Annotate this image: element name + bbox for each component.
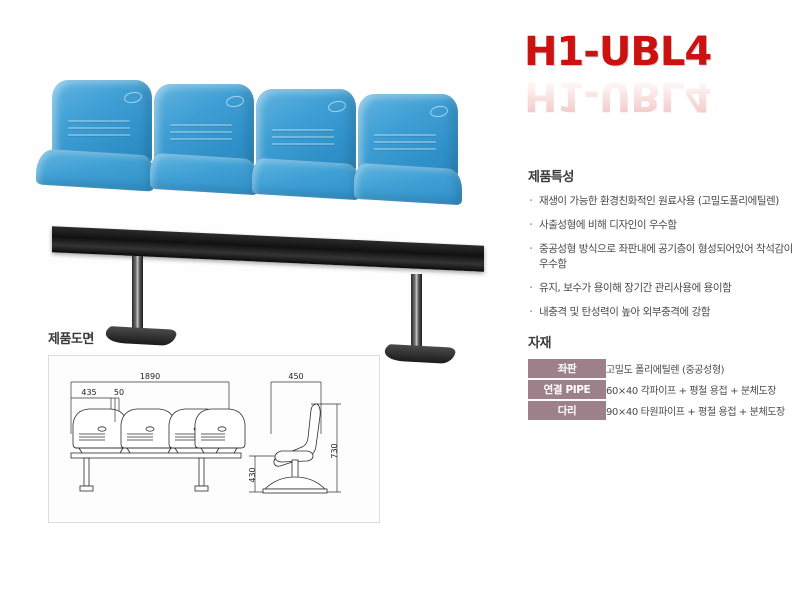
- material-key: 좌판: [528, 359, 606, 379]
- drawing-box: 1890 435 50: [48, 355, 380, 523]
- materials-table: 좌판 고밀도 폴리에틸렌 (중공성형) 연결 PIPE 60×40 각파이프 +…: [528, 359, 804, 422]
- drawing-svg: 1890 435 50: [49, 356, 379, 522]
- photo-stage: [30, 60, 510, 310]
- seat-pan: [150, 153, 258, 196]
- feature-item: 유지, 보수가 용이해 장기간 관리사용에 용이함: [528, 281, 804, 296]
- dim-total-height: 730: [330, 443, 339, 458]
- product-model-name-reflection: H1-UBL4: [524, 76, 711, 116]
- material-value: 60×40 각파이프 + 평철 용접 + 분체도장: [606, 379, 804, 400]
- features-list: 재생이 가능한 환경친화적인 원료사용 (고밀도폴리에틸렌) 사출성형에 비해 …: [528, 194, 804, 319]
- leg-post: [132, 256, 143, 334]
- product-model-name: H1-UBL4: [524, 32, 804, 72]
- table-row: 좌판 고밀도 폴리에틸렌 (중공성형): [528, 359, 804, 379]
- product-title-block: H1-UBL4 H1-UBL4: [524, 32, 804, 124]
- seat-pan: [354, 163, 462, 206]
- feature-item: 사출성형에 비해 디자인이 우수함: [528, 218, 804, 233]
- material-value: 90×40 타원파이프 + 평철 용접 + 분체도장: [606, 400, 804, 421]
- product-catalog-page: H1-UBL4 H1-UBL4 제품특성 재생이 가능한 환경친화적인 원료사용…: [0, 0, 807, 606]
- front-view-seats: [73, 409, 245, 453]
- materials-heading: 자재: [528, 332, 804, 351]
- table-row: 다리 90×40 타원파이프 + 평철 용접 + 분체도장: [528, 400, 804, 421]
- material-key: 다리: [528, 400, 606, 421]
- dim-seat-width: 435: [81, 388, 96, 397]
- dim-seat-gap: 50: [114, 388, 124, 397]
- feature-item: 내충격 및 탄성력이 높아 외부충격에 강함: [528, 305, 804, 320]
- dim-depth: 450: [288, 372, 303, 381]
- feature-item: 재생이 가능한 환경친화적인 원료사용 (고밀도폴리에틸렌): [528, 194, 804, 209]
- dim-overall-width: 1890: [140, 372, 160, 381]
- side-view-chair: [263, 404, 327, 493]
- leg-post: [411, 274, 422, 352]
- product-features-section: 제품특성 재생이 가능한 환경친화적인 원료사용 (고밀도폴리에틸렌) 사출성형…: [528, 166, 804, 328]
- leg-foot: [380, 344, 458, 364]
- dim-seat-height: 430: [248, 467, 257, 482]
- chair-seat-3: [252, 89, 360, 207]
- material-key: 연결 PIPE: [528, 379, 606, 400]
- drawing-section: 제품도면 1890 435 50: [48, 328, 380, 523]
- feature-item: 중공성형 방식으로 좌판내에 공기층이 형성되어있어 착석감이 우수함: [528, 242, 804, 272]
- chair-seat-1: [48, 80, 156, 198]
- features-heading: 제품특성: [528, 166, 804, 185]
- seat-pan: [36, 148, 154, 191]
- product-photo: [30, 60, 510, 310]
- chair-seat-4: [354, 94, 462, 212]
- material-value: 고밀도 폴리에틸렌 (중공성형): [606, 359, 804, 379]
- chair-seat-2: [150, 84, 258, 202]
- drawing-heading: 제품도면: [48, 328, 380, 347]
- table-row: 연결 PIPE 60×40 각파이프 + 평철 용접 + 분체도장: [528, 379, 804, 400]
- materials-section: 자재 좌판 고밀도 폴리에틸렌 (중공성형) 연결 PIPE 60×40 각파이…: [528, 332, 804, 422]
- seat-pan: [252, 158, 360, 201]
- chair-beam: [52, 226, 484, 272]
